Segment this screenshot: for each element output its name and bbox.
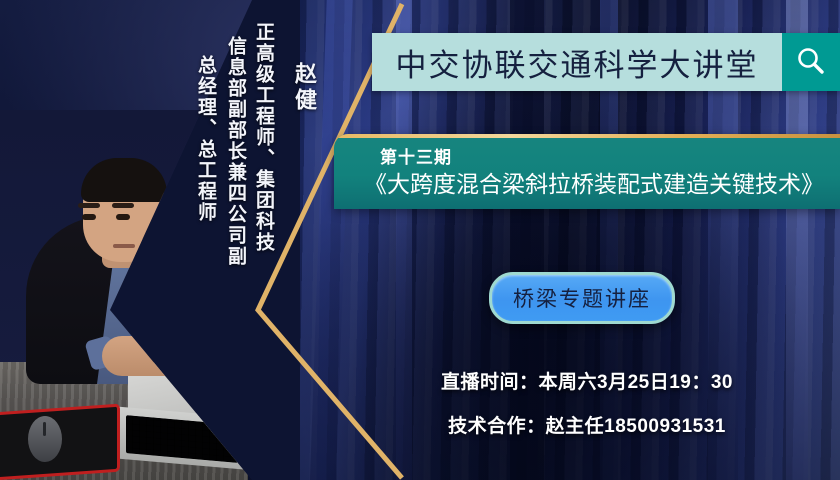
speaker-title-line-1: 正高级工程师、集团科技 xyxy=(250,22,277,253)
episode-topic: 《大跨度混合梁斜拉桥装配式建造关键技术》 xyxy=(348,165,840,199)
speaker-eye xyxy=(82,214,96,220)
speaker-title-line-3: 总经理、总工程师 xyxy=(192,55,219,223)
search-button[interactable] xyxy=(782,33,840,91)
live-time-text: 直播时间：本周六3月25日19：30 xyxy=(334,367,840,394)
speaker-eyebrow xyxy=(112,203,134,208)
speaker-name: 赵健 xyxy=(288,62,320,114)
speaker-eye xyxy=(116,214,130,220)
speaker-title-line-2: 信息部副部长兼四公司副 xyxy=(222,36,249,267)
contact-text: 技术合作：赵主任18500931531 xyxy=(334,411,840,438)
topic-badge-label: 桥梁专题讲座 xyxy=(513,283,651,313)
episode-banner: 第十三期 《大跨度混合梁斜拉桥装配式建造关键技术》 xyxy=(334,134,840,209)
brand-title-plate: 中交协联交通科学大讲堂 xyxy=(372,33,782,91)
brand-title-bar: 中交协联交通科学大讲堂 xyxy=(372,33,840,91)
speaker-hands xyxy=(102,336,188,376)
topic-badge[interactable]: 桥梁专题讲座 xyxy=(489,272,675,324)
speaker-eyebrow xyxy=(78,203,100,208)
brand-title-text: 中交协联交通科学大讲堂 xyxy=(396,40,759,85)
speaker-mouth xyxy=(113,244,135,248)
webinar-poster: 赵健 正高级工程师、集团科技 信息部副部长兼四公司副 总经理、总工程师 中交协联… xyxy=(0,0,840,480)
search-icon xyxy=(794,45,828,79)
computer-mouse xyxy=(28,416,62,462)
